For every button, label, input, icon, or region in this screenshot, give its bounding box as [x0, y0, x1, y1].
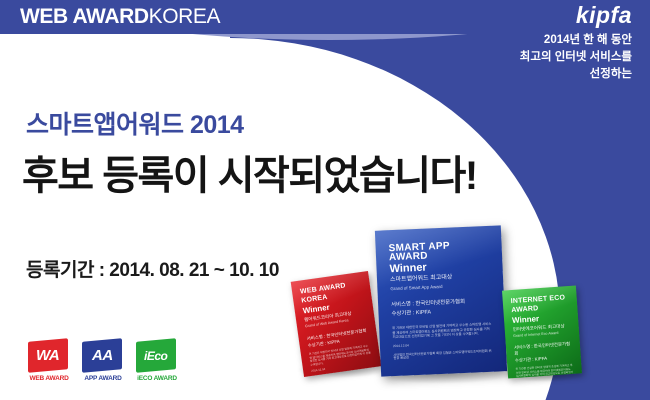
web-award-plaque-content: WEB AWARD KOREA Winner 웹어워드코리아 최고대상 Gran… — [291, 271, 382, 377]
badge-app-award: AA APP AWARD — [82, 340, 124, 382]
badge-web-award: WA WEB AWARD — [28, 340, 70, 382]
tagline-line-2: 최고의 인터넷 서비스를 — [520, 49, 632, 66]
internet-eco-award-plaque-content: INTERNET ECO AWARD Winner 인터넷에코어워드 최고대상 … — [502, 286, 582, 379]
app-award-mark: AA — [92, 347, 113, 364]
app-award-caption: APP AWARD — [82, 375, 124, 382]
blue-plaque-org: 사단법인 한국인터넷전문가협회 회장 김철균 스마트앱어워드조직위원회 위원장 … — [393, 349, 493, 361]
kipfa-logo: kipfa — [576, 2, 632, 29]
web-award-icon: WA — [28, 338, 68, 372]
promo-banner: WEB AWARDKOREA kipfa 2014년 한 해 동안 최고의 인터… — [0, 0, 650, 400]
ieco-award-mark: iEco — [144, 349, 167, 363]
ieco-award-icon: iEco — [136, 338, 176, 372]
web-award-caption: WEB AWARD — [28, 375, 70, 382]
ieco-award-caption: iECO AWARD — [136, 375, 178, 382]
logo-light-text: KOREA — [149, 5, 221, 28]
smart-app-award-plaque: SMART APP AWARD Winner 스마트앱어워드 최고대상 Gran… — [375, 225, 507, 376]
registration-period: 등록기간 : 2014. 08. 21 ~ 10. 10 — [26, 255, 279, 282]
tagline: 2014년 한 해 동안 최고의 인터넷 서비스를 선정하는 — [520, 32, 632, 83]
web-award-korea-logo: WEB AWARDKOREA — [20, 5, 220, 29]
blue-plaque-date: 2014.12.04 — [393, 341, 493, 349]
subheadline: 스마트앱어워드 2014 — [26, 105, 244, 141]
tagline-line-1: 2014년 한 해 동안 — [520, 32, 632, 49]
app-award-icon: AA — [82, 338, 122, 372]
blue-plaque-fineprint: 위 기관은 대한민국 모바일 산업 발전에 기여하고 우수한 스마트앱 서비스를… — [392, 322, 493, 340]
badge-ieco-award: iEco iECO AWARD — [136, 340, 178, 382]
award-badge-group: WA WEB AWARD AA APP AWARD iEco iECO AWAR… — [28, 340, 178, 382]
logo-bold-text: WEB AWARD — [20, 5, 149, 28]
internet-eco-award-plaque: INTERNET ECO AWARD Winner 인터넷에코어워드 최고대상 … — [502, 286, 582, 379]
smart-app-award-plaque-content: SMART APP AWARD Winner 스마트앱어워드 최고대상 Gran… — [375, 225, 507, 376]
blue-plaque-title: SMART APP AWARD — [388, 240, 489, 262]
main-headline: 후보 등록이 시작되었습니다! — [22, 143, 477, 201]
web-award-mark: WA — [36, 347, 59, 364]
web-award-plaque: WEB AWARD KOREA Winner 웹어워드코리아 최고대상 Gran… — [291, 271, 382, 377]
tagline-line-3: 선정하는 — [520, 66, 632, 83]
